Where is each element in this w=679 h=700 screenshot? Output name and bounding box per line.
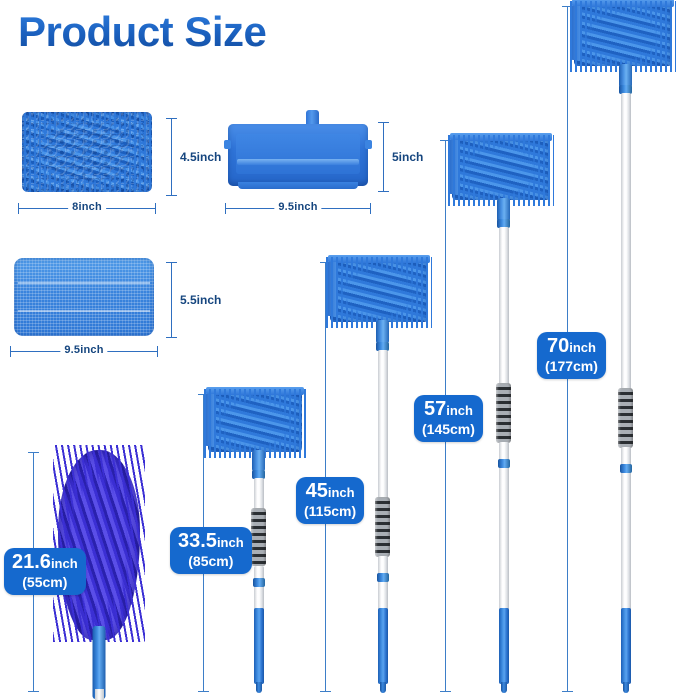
microfiber-pad-width-dimension: 9.5inch [10, 346, 158, 357]
mop-head-fringe [326, 257, 432, 328]
microfiber-pad-height-label: 5.5inch [180, 293, 221, 307]
pad-seam-bottom [18, 310, 150, 312]
dimension-bar [171, 262, 172, 338]
guide-cap-bottom [440, 691, 451, 692]
dimension-cap-bottom [166, 195, 177, 196]
squeegee-foot [238, 182, 358, 189]
dimension-cap-left [18, 203, 19, 214]
chenille-pad-width-dimension: 8inch [18, 203, 156, 214]
pole-45-mid-shaft [378, 556, 388, 610]
pole-45-tip [380, 682, 386, 693]
badge-inches: 33.5 [178, 530, 217, 552]
badge-unit: inch [328, 485, 355, 500]
mop-head-fringe [570, 1, 676, 72]
badge-inches: 57 [424, 398, 446, 420]
pole-57-lower-shaft [499, 608, 509, 684]
pole-45-collar-lower [377, 573, 389, 582]
dimension-cap-top [378, 122, 389, 123]
badge-metric: (85cm) [178, 553, 244, 569]
pole-57-grip [496, 383, 511, 443]
pole-45-connector [376, 320, 389, 344]
pole-33-connector [252, 450, 265, 472]
dimension-cap-bottom [166, 337, 177, 338]
badge-metric: (115cm) [304, 503, 356, 519]
pole-70-grip [618, 388, 633, 448]
duster-plume [58, 450, 140, 640]
badge-primary-line: 45inch [304, 481, 356, 503]
squeegee-right-lug [365, 140, 372, 149]
pole-33-lower-shaft [254, 608, 264, 684]
badge-metric: (55cm) [12, 574, 78, 590]
dimension-cap-right [155, 203, 156, 214]
pole-57-upper-shaft [499, 227, 509, 387]
duster-handle [93, 626, 106, 699]
duster-handle-tip [95, 689, 104, 700]
dimension-bar [383, 122, 384, 192]
badge-unit: inch [446, 403, 473, 418]
pad-seam-top [18, 282, 150, 284]
squeegee-height-label: 5inch [392, 150, 423, 164]
dimension-cap-right [157, 346, 158, 357]
microfiber-flat-pad [14, 258, 154, 336]
pole-33-grip [251, 508, 266, 566]
squeegee-inner-panel [236, 134, 360, 174]
squeegee-blade [237, 159, 359, 165]
badge-pole-70-length: 70inch (177cm) [537, 332, 606, 379]
dimension-cap-left [225, 203, 226, 214]
badge-primary-line: 70inch [545, 336, 598, 358]
badge-unit: inch [569, 340, 596, 355]
squeegee-height-dimension: 5inch [378, 122, 389, 192]
badge-inches: 70 [547, 335, 569, 357]
chenille-pad-height-label: 4.5inch [180, 150, 221, 164]
mop-head-fringe [204, 389, 306, 458]
squeegee-left-lug [224, 140, 231, 149]
guide-cap-top [28, 452, 39, 453]
mop-head-70 [574, 4, 672, 66]
badge-pole-33-length: 33.5inch (85cm) [170, 527, 252, 574]
chenille-pad-width-label: 8inch [68, 201, 106, 214]
mop-head-fringe [448, 135, 554, 206]
squeegee-head [228, 110, 368, 192]
dimension-cap-top [166, 262, 177, 263]
squeegee-width-dimension: 9.5inch [225, 203, 371, 214]
mop-head-33 [208, 392, 302, 452]
pole-33-collar-lower [253, 578, 265, 587]
microfiber-pad-height-dimension: 5.5inch [166, 262, 177, 338]
mop-head-45 [330, 260, 428, 322]
dimension-bar [171, 118, 172, 196]
badge-primary-line: 21.6inch [12, 552, 78, 574]
badge-pole-45-length: 45inch (115cm) [296, 477, 364, 524]
squeegee-width-label: 9.5inch [274, 201, 321, 214]
badge-inches: 21.6 [12, 551, 51, 573]
badge-duster-length: 21.6inch (55cm) [4, 548, 86, 595]
pole-45-lower-shaft [378, 608, 388, 684]
guide-cap-bottom [198, 691, 209, 692]
pole-33-mid-shaft [254, 566, 264, 612]
pole-45-grip [375, 497, 390, 557]
chenille-scrub-pad [22, 112, 152, 192]
pole-70-upper-shaft [621, 93, 631, 393]
guide-cap-bottom [562, 691, 573, 692]
badge-metric: (145cm) [422, 421, 475, 437]
guide-cap-bottom [28, 691, 39, 692]
chenille-pad-height-dimension: 4.5inch [166, 118, 177, 196]
dimension-cap-bottom [378, 191, 389, 192]
badge-metric: (177cm) [545, 358, 598, 374]
pole-45-upper-shaft [378, 350, 388, 500]
microfiber-pad-width-label: 9.5inch [60, 344, 107, 357]
badge-inches: 45 [306, 480, 328, 502]
mop-head-57 [452, 138, 550, 200]
pole-70-collar-lower [620, 464, 632, 473]
pole-33-tip [256, 682, 262, 693]
page-title: Product Size [18, 8, 266, 56]
pole-57-collar-lower [498, 459, 510, 468]
dimension-cap-right [370, 203, 371, 214]
badge-primary-line: 57inch [422, 399, 475, 421]
dimension-cap-left [10, 346, 11, 357]
pole-70-lower-shaft [621, 608, 631, 684]
dimension-cap-top [166, 118, 177, 119]
product-size-infographic: Product Size 4.5inch 8inch 5inch 9.5inch [0, 0, 679, 700]
badge-pole-57-length: 57inch (145cm) [414, 395, 483, 442]
badge-primary-line: 33.5inch [178, 531, 244, 553]
squeegee-body [228, 124, 368, 186]
pole-57-tip [501, 682, 507, 693]
badge-unit: inch [51, 556, 78, 571]
badge-unit: inch [217, 535, 244, 550]
guide-cap-bottom [320, 691, 331, 692]
pole-70-tip [623, 682, 629, 693]
